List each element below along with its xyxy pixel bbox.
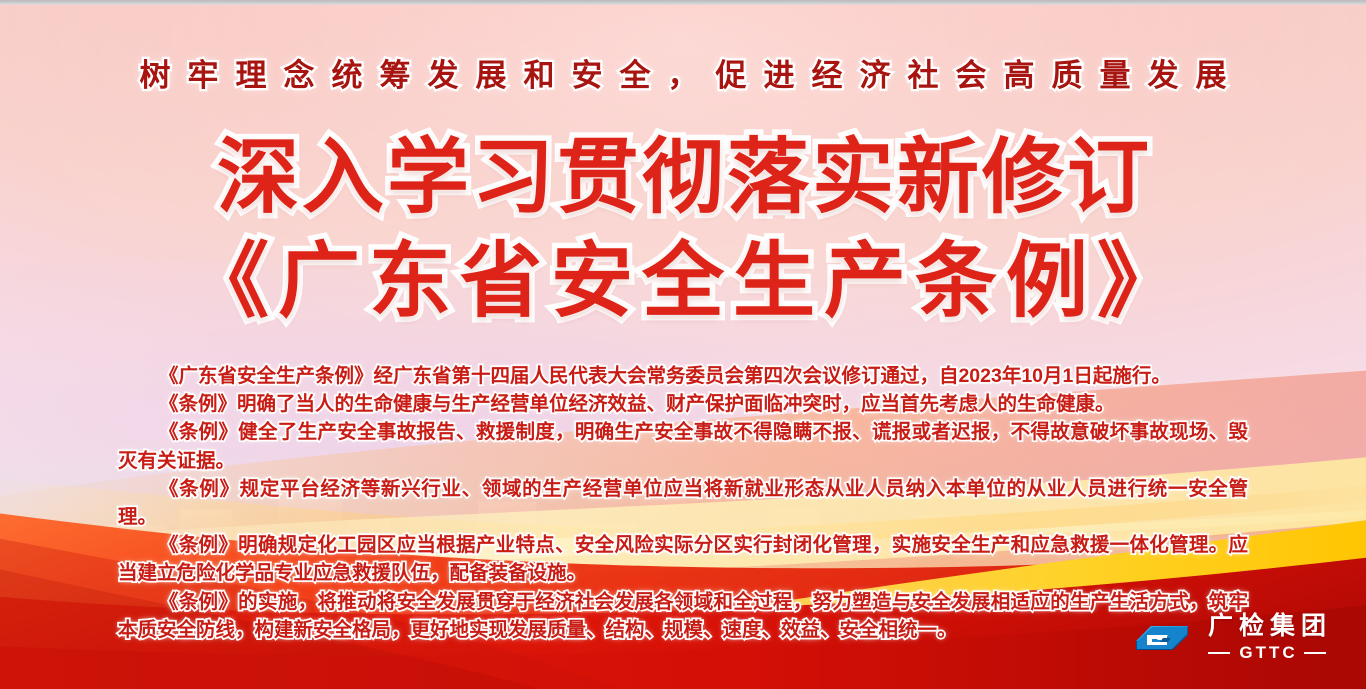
logo-rule-right [1304,652,1326,654]
title-line-2: 《广东省安全生产条例》 [0,230,1366,334]
body-paragraph: 《条例》健全了生产安全事故报告、救援制度，明确生产安全事故不得隐瞒不报、谎报或者… [118,418,1248,474]
body-paragraph: 《广东省安全生产条例》经广东省第十四届人民代表大会常务委员会第四次会议修订通过，… [118,362,1248,390]
logo-rule-left [1208,652,1230,654]
poster-canvas: 树牢理念统筹发展和安全，促进经济社会高质量发展 深入学习贯彻落实新修订 《广东省… [0,0,1366,689]
poster-body-text: 《广东省安全生产条例》经广东省第十四届人民代表大会常务委员会第四次会议修订通过，… [118,362,1248,644]
logo-english-row: GTTC [1208,644,1325,661]
logo-company-name-cn: 广检集团 [1202,614,1332,639]
top-chrome-strip [0,0,1366,5]
gttc-g-mark-icon [1132,615,1192,661]
title-line-1: 深入学习贯彻落实新修订 [0,126,1366,230]
body-paragraph: 《条例》规定平台经济等新兴行业、领域的生产经营单位应当将新就业形态从业人员纳入本… [118,475,1248,531]
body-paragraph: 《条例》明确规定化工园区应当根据产业特点、安全风险实际分区实行封闭化管理，实施安… [118,531,1248,587]
body-paragraph: 《条例》明确了当人的生命健康与生产经营单位经济效益、财产保护面临冲突时，应当首先… [118,390,1248,418]
poster-headline: 树牢理念统筹发展和安全，促进经济社会高质量发展 [0,50,1366,95]
logo-wordmark: 广检集团 GTTC [1202,614,1332,661]
poster-content: 树牢理念统筹发展和安全，促进经济社会高质量发展 深入学习贯彻落实新修订 《广东省… [0,0,1366,689]
body-paragraph: 《条例》的实施，将推动将安全发展贯穿于经济社会发展各领域和全过程，努力塑造与安全… [118,588,1248,644]
gttc-logo: 广检集团 GTTC [1132,614,1332,661]
logo-company-name-en: GTTC [1236,644,1297,661]
poster-title: 深入学习贯彻落实新修订 《广东省安全生产条例》 [0,126,1366,334]
